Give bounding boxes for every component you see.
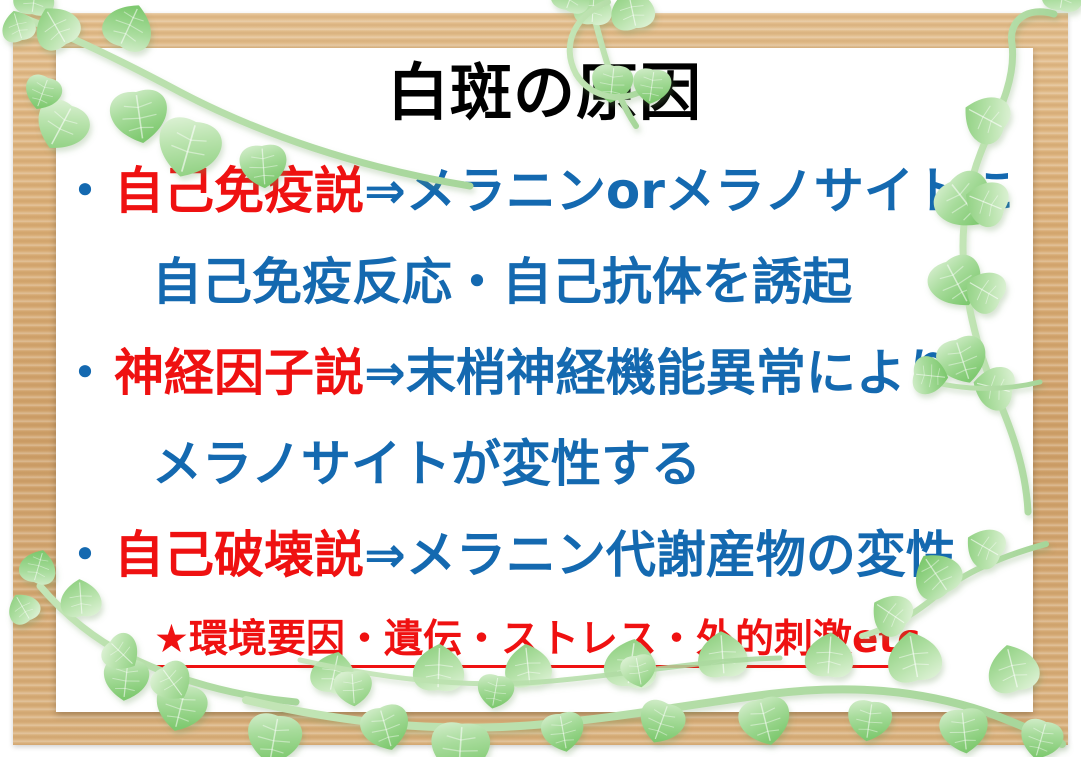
list-item-detail: ⇒メラニンorメラノサイトに: [364, 162, 1014, 220]
list-item: 自己免疫反応・自己抗体を誘起: [56, 237, 1033, 328]
list-item-detail: ⇒メラニン代謝産物の変性: [364, 526, 956, 584]
list-item: ・神経因子説⇒末梢神経機能異常により: [56, 328, 1033, 419]
list-item: ・自己破壊説⇒メラニン代謝産物の変性: [56, 510, 1033, 601]
bullet-icon: ・: [60, 328, 110, 419]
star-icon: ★: [154, 617, 189, 662]
list-item-term: 自己免疫説: [114, 162, 364, 220]
page-title: 白斑の原因: [56, 62, 1033, 124]
bullet-icon: ・: [60, 510, 110, 601]
list-item-detail: メラノサイトが変性する: [152, 435, 701, 493]
list-item-term: 神経因子説: [114, 344, 364, 402]
footnote-underlined-text: ★環境要因・遺伝・ストレス・外的刺激etc.: [154, 608, 935, 668]
slide-canvas: 白斑の原因 ・自己免疫説⇒メラニンorメラノサイトに 自己免疫反応・自己抗体を誘…: [0, 0, 1081, 757]
list-item: ・自己免疫説⇒メラニンorメラノサイトに: [56, 146, 1033, 237]
footnote: ★環境要因・遺伝・ストレス・外的刺激etc.: [56, 608, 1033, 668]
footnote-label: 環境要因・遺伝・ストレス・外的刺激etc.: [189, 617, 935, 662]
bullet-icon: ・: [60, 146, 110, 237]
list-item: メラノサイトが変性する: [56, 419, 1033, 510]
bullet-list: ・自己免疫説⇒メラニンorメラノサイトに 自己免疫反応・自己抗体を誘起 ・神経因…: [56, 146, 1033, 601]
list-item-detail: ⇒末梢神経機能異常により: [364, 344, 955, 402]
slide-body: 白斑の原因 ・自己免疫説⇒メラニンorメラノサイトに 自己免疫反応・自己抗体を誘…: [56, 48, 1033, 712]
list-item-detail: 自己免疫反応・自己抗体を誘起: [152, 253, 852, 311]
list-item-term: 自己破壊説: [114, 526, 364, 584]
